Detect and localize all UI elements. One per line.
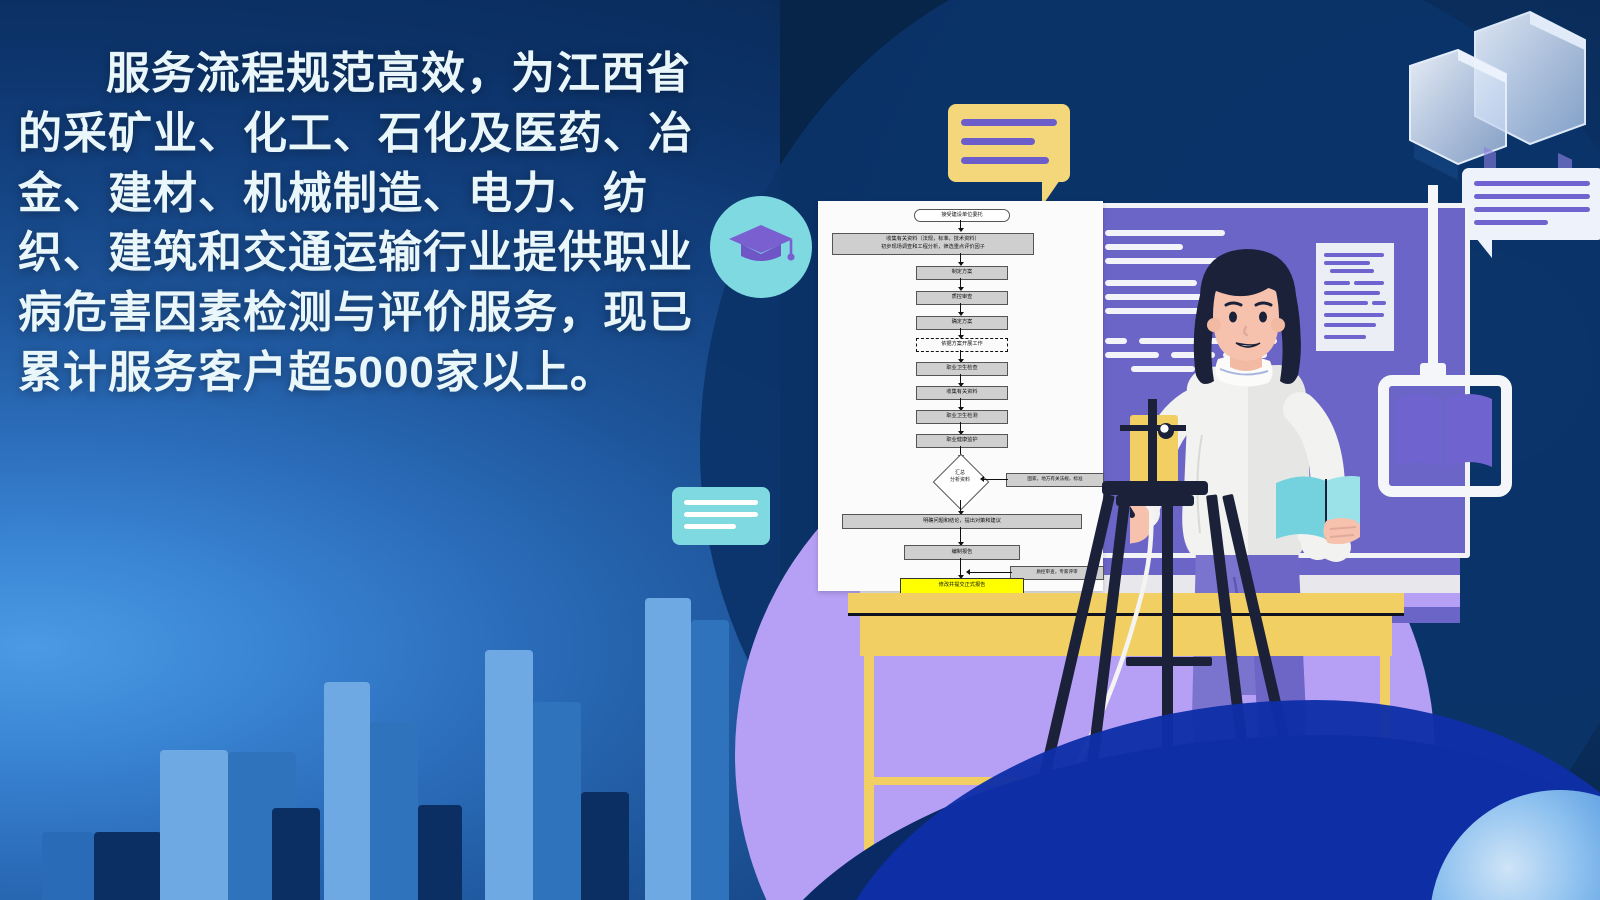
headline-line-2: 的采矿业、化工、石化及医药、冶 [18, 104, 778, 164]
poster-line [1372, 301, 1386, 305]
flow-node-highlight: 修改并提交正式报告 [900, 578, 1024, 594]
chart-bar [94, 832, 162, 900]
speech-bubble-icon [1462, 168, 1600, 240]
chart-bar [485, 650, 533, 900]
bubble-line [1474, 207, 1590, 212]
poster-canvas: 服务流程规范高效，为江西省 的采矿业、化工、石化及医药、冶 金、建材、机械制造、… [0, 0, 1600, 900]
chalkboard-line [1105, 338, 1127, 344]
desk-leg-left [864, 656, 874, 864]
card-line [684, 512, 758, 517]
projector-lens [1158, 423, 1174, 439]
flow-node: 编制报告 [904, 545, 1020, 560]
headline-line-6: 累计服务客户超5000家以上。 [18, 343, 778, 403]
chalkboard-line [1105, 230, 1225, 236]
bubble-line [961, 138, 1035, 145]
headline-line-5: 病危害因素检测与评价服务，现已 [18, 283, 778, 343]
books-icon [1380, 4, 1595, 189]
headline-line-3: 金、建材、机械制造、电力、纺 [18, 164, 778, 224]
bubble-line [1474, 181, 1590, 186]
note-card-icon [672, 487, 770, 545]
page-title: 服务流程规范高效，为江西省 的采矿业、化工、石化及医药、冶 金、建材、机械制造、… [18, 44, 778, 403]
bubble-line [1474, 220, 1548, 225]
headline-line-4: 织、建筑和交通运输行业提供职业 [18, 223, 778, 283]
chart-bar [324, 682, 370, 900]
bubble-line [1474, 194, 1590, 199]
bubble-tail [1476, 238, 1492, 258]
flow-node: 接受建设单位委托 [914, 209, 1010, 222]
card-line [684, 524, 736, 529]
chart-bar [691, 620, 729, 900]
speech-bubble-icon [948, 104, 1070, 182]
open-book-icon [1378, 375, 1512, 497]
bubble-line [961, 119, 1057, 126]
tripod-crossbar [1126, 657, 1212, 666]
flow-node: 收集有关资料（法规，标准，技术资料） 初步现场调查和工程分析，筛选重点评价因子 [832, 233, 1034, 255]
tripod-head-lower [1116, 495, 1194, 506]
headline-line-1: 服务流程规范高效，为江西省 [18, 44, 778, 104]
tripod-head [1102, 481, 1208, 495]
chart-bar [418, 805, 462, 900]
flow-node: 职业卫生检测 [916, 410, 1008, 424]
chart-bar [160, 750, 228, 900]
chart-bar [581, 792, 629, 900]
flow-node: 收集有关资料 [916, 386, 1008, 400]
book-stand-pole [1428, 185, 1438, 377]
flow-node: 制定方案 [916, 266, 1008, 280]
chart-bar [272, 808, 320, 900]
flow-node: 依据方案开展工作 [916, 338, 1008, 352]
chart-bar [645, 598, 691, 900]
flow-node: 职业卫生检查 [916, 362, 1008, 376]
chart-bar [370, 722, 418, 900]
flow-node: 质控审查 [916, 291, 1008, 305]
flow-node: 汇总 分析资料 [936, 470, 984, 485]
flow-node: 职业健康监护 [916, 434, 1008, 448]
flow-node: 确定方案 [916, 316, 1008, 330]
chart-bar [533, 702, 581, 900]
bubble-line [961, 157, 1049, 164]
card-line [684, 500, 758, 505]
chart-bar [42, 832, 94, 900]
